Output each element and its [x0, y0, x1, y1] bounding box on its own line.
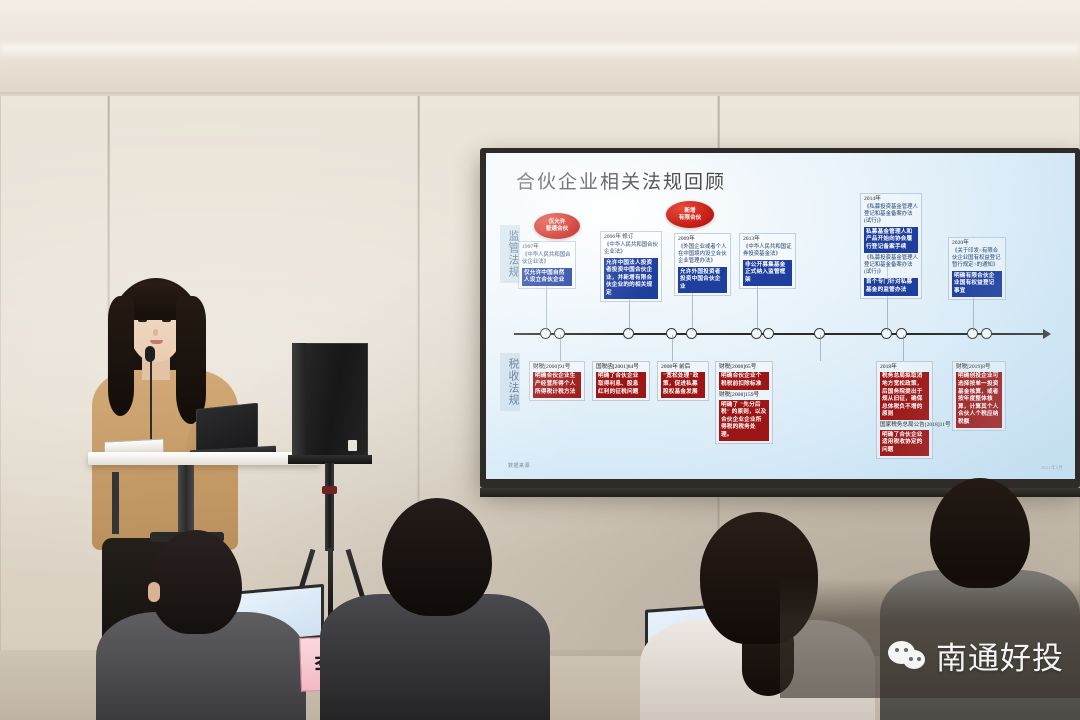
presenter-hair-right [176, 296, 206, 424]
podium-desktop [88, 452, 320, 465]
callout-text: 新增 有限合伙 [679, 208, 701, 221]
event-year: 2013年 [743, 236, 792, 243]
event-card-2020: 2020年 《关于印发<有限合伙企业国有权益登记暂行规定>的通知》 明确有限合伙… [948, 237, 1006, 300]
audience-head [930, 478, 1030, 588]
tax-highlight-secondary: 明确了合伙企业适用税收协定的问题 [880, 430, 929, 456]
speaker-side-panel [292, 343, 306, 463]
event-law: 《中华人民共和国合伙企业法》 [522, 252, 572, 266]
wechat-dot [904, 648, 908, 652]
tax-doc-number: 2008年 前后 [661, 364, 705, 371]
tax-card-caishui-2019-8: 财税[2019]8号 明确创投企业可选择按单一投资基金核算，或者按年度整体核算，… [952, 361, 1006, 431]
speaker-badge [348, 440, 357, 451]
event-law: 《中华人民共和国合伙企业法》 [604, 242, 658, 256]
page-title: 合伙企业相关法规回顾 [516, 167, 726, 194]
timeline-node [896, 328, 907, 339]
event-card-2009: 2009年 《外国企业或者个人在中国境内设立合伙企业管理办法》 允许外国投资者投… [674, 233, 731, 296]
event-year: 2006年 修订 [604, 234, 658, 241]
presentation-display: 合伙企业相关法规回顾 监管法规 税收法规 [480, 148, 1080, 488]
wechat-bubble-small [903, 650, 925, 669]
event-year: 2009年 [678, 236, 727, 243]
timeline-axis [514, 333, 1044, 335]
callout-general-partnership: 仅允许 普通合伙 [534, 213, 580, 239]
tax-highlight: 明确合伙企业个税税前扣除标准 [719, 372, 769, 390]
audience-head [150, 530, 242, 634]
wechat-dot [909, 657, 913, 661]
event-card-2013: 2013年 《中华人民共和国证券投资基金法》 非公开募集基金正式纳入监管框架 [739, 233, 796, 289]
microphone-icon [145, 346, 155, 362]
photo-scene: 合伙企业相关法规回顾 监管法规 税收法规 [0, 0, 1080, 720]
slide-canvas: 合伙企业相关法规回顾 监管法规 税收法规 [486, 153, 1075, 479]
timeline-stem [560, 335, 561, 361]
display-screen: 合伙企业相关法规回顾 监管法规 税收法规 [486, 153, 1075, 479]
wechat-dot [917, 657, 921, 661]
tax-doc-number: 国税函[2001]84号 [596, 364, 646, 371]
slide-page-number: 2021年3月 [1041, 465, 1063, 471]
wechat-icon [888, 639, 928, 673]
event-year: 2020年 [952, 240, 1002, 247]
event-highlight: 仅允许中国自然人设立合伙企业 [522, 268, 572, 286]
event-highlight-secondary: 首个专门针对私募基金的监管办法 [864, 278, 918, 296]
presenter-hair-left [108, 296, 134, 416]
tax-highlight: 明确创投企业可选择按单一投资基金核算，或者按年度整体核算，计算其个人合伙人个税应… [956, 372, 1002, 428]
slide-footer-note: 数据来源 [508, 462, 530, 469]
tax-doc-number-secondary: 国家税务总局公告[2018]11号 [880, 422, 929, 429]
presenter-mouth [150, 340, 163, 344]
timeline-stem [820, 335, 821, 361]
audience-ear [148, 582, 160, 602]
tax-doc-number: 2018年 [880, 364, 929, 371]
audience-head [382, 498, 492, 616]
event-law: 《中华人民共和国证券投资基金法》 [743, 244, 792, 258]
tax-doc-number: 财税[2008]65号 [719, 364, 769, 371]
event-card-1997: 1997年 《中华人民共和国合伙企业法》 仅允许中国自然人设立合伙企业 [518, 241, 576, 289]
event-card-2014: 2014年 《私募投资基金管理人登记和基金备案办法(试行)》 私募基金管理人和产… [860, 193, 922, 299]
event-law: 《私募投资基金管理人登记和基金备案办法(试行)》 [864, 204, 918, 225]
event-highlight: 明确有限合伙企业国有权益登记事宜 [952, 271, 1002, 297]
tax-card-caishui-2000-91: 财税[2000]91号 明确合伙企业生产经营所得个人所得税计税方法 [529, 361, 585, 401]
event-card-2006: 2006年 修订 《中华人民共和国合伙企业法》 允许中国法人投资者投资中国合伙企… [600, 231, 662, 302]
tax-highlight: 税务总局拟取消地方宽松政策，后国务院提出于规从旧征，确保总体税负不增的原则 [880, 372, 929, 420]
section-label-regulatory: 监管法规 [500, 225, 520, 283]
callout-text: 仅允许 普通合伙 [546, 219, 568, 232]
event-highlight: 私募基金管理人和产品开始向协会履行登记备案手续 [864, 227, 918, 253]
wechat-dot [895, 648, 899, 652]
tax-doc-number: 财税[2000]91号 [533, 364, 581, 371]
callout-limited-partnership: 新增 有限合伙 [666, 201, 714, 228]
event-highlight: 非公开募集基金正式纳入监管框架 [743, 260, 792, 286]
tax-card-caishui-2008-65: 财税[2008]65号 明确合伙企业个税税前扣除标准 财税[2008]159号 … [715, 361, 773, 444]
section-label-tax: 税收法规 [500, 353, 520, 411]
watermark-account-name: 南通好投 [936, 633, 1064, 678]
timeline-stem [903, 335, 904, 361]
watermark: 南通好投 [888, 633, 1064, 678]
event-law: 《关于印发<有限合伙企业国有权益登记暂行规定>的通知》 [952, 248, 1002, 269]
tax-card-guoshuihan-2001-84: 国税函[2001]84号 明确了合伙企业取得利息、股息红利的征税问题 [592, 361, 650, 401]
audience-head [700, 512, 818, 644]
audience: 李元好 [0, 490, 1080, 720]
event-highlight: 允许中国法人投资者投资中国合伙企业，并新增有限合伙企业的的相关规定 [604, 258, 658, 299]
timeline-node [763, 328, 774, 339]
tax-highlight: 明确合伙企业生产经营所得个人所得税计税方法 [533, 372, 581, 398]
tax-highlight: 明确了合伙企业取得利息、股息红利的征税问题 [596, 372, 646, 398]
presenter-nose [153, 329, 158, 336]
tax-doc-number: 财税[2019]8号 [956, 364, 1002, 371]
event-year: 1997年 [522, 244, 572, 251]
tax-card-2018: 2018年 税务总局拟取消地方宽松政策，后国务院提出于规从旧征，确保总体税负不增… [876, 361, 933, 459]
timeline-node [981, 328, 992, 339]
event-law-secondary: 《私募投资基金管理人登记和基金备案办法(试行)》 [864, 255, 918, 276]
tax-highlight-secondary: 明确了 "先分后税" 的原则，以及合伙企业企业所得税的税务处理。 [719, 400, 769, 441]
tax-doc-number-secondary: 财税[2008]159号 [719, 392, 769, 399]
ceiling-cove-light [0, 44, 1080, 60]
tax-highlight: "宽松处理"政策，促进私募股权基金发展 [661, 372, 705, 398]
tax-card-2008-era: 2008年 前后 "宽松处理"政策，促进私募股权基金发展 [657, 361, 709, 401]
timeline-stem [672, 335, 673, 361]
event-year: 2014年 [864, 196, 918, 203]
microphone-stand [150, 352, 152, 452]
event-law: 《外国企业或者个人在中国境内设立合伙企业管理办法》 [678, 244, 727, 265]
event-highlight: 允许外国投资者投资中国合伙企业 [678, 267, 727, 293]
